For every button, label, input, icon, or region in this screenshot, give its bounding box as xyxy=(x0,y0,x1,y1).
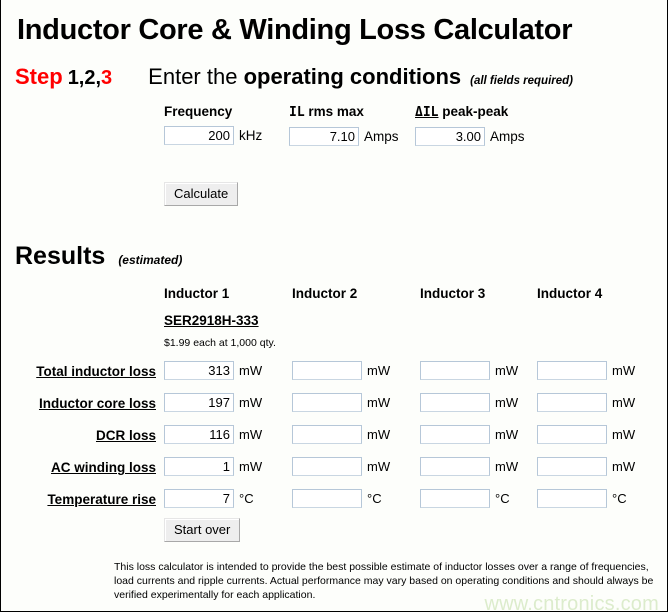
value-core-loss-inductor-2[interactable] xyxy=(292,393,362,412)
step-numbers-black: 1,2, xyxy=(68,67,101,89)
unit-dcr-loss-inductor-4: mW xyxy=(612,427,635,442)
cell-dcr-loss-inductor-2: mW xyxy=(292,425,390,444)
column-header-inductor-2: Inductor 2 xyxy=(292,286,357,301)
value-core-loss-inductor-1[interactable] xyxy=(164,393,234,412)
il-rms-max-field-row: Amps xyxy=(289,127,399,146)
step-word: Step xyxy=(15,64,63,90)
delta-il-peak-peak-unit: Amps xyxy=(490,129,525,144)
cell-temp-rise-inductor-4: °C xyxy=(537,489,627,508)
cell-dcr-loss-inductor-1: mW xyxy=(164,425,262,444)
value-temp-rise-inductor-4[interactable] xyxy=(537,489,607,508)
unit-temp-rise-inductor-1: °C xyxy=(239,491,254,506)
unit-ac-winding-loss-inductor-4: mW xyxy=(612,459,635,474)
calculate-button[interactable]: Calculate xyxy=(164,182,238,206)
cell-total-loss-inductor-3: mW xyxy=(420,361,518,380)
cell-core-loss-inductor-4: mW xyxy=(537,393,635,412)
il-rms-max-unit: Amps xyxy=(364,129,399,144)
row-label-ac-winding-loss[interactable]: AC winding loss xyxy=(1,460,156,475)
operating-conditions-inputs: Frequency kHz IL rms max Amps ΔIL peak-p… xyxy=(1,90,667,182)
step-instruction-bold: operating conditions xyxy=(244,64,462,89)
value-temp-rise-inductor-3[interactable] xyxy=(420,489,490,508)
delta-il-peak-peak-input[interactable] xyxy=(415,127,485,146)
cell-total-loss-inductor-2: mW xyxy=(292,361,390,380)
value-dcr-loss-inductor-3[interactable] xyxy=(420,425,490,444)
step-number-three: 3 xyxy=(101,67,112,89)
start-over-button-wrap: Start over xyxy=(164,518,240,542)
unit-core-loss-inductor-3: mW xyxy=(495,395,518,410)
cell-temp-rise-inductor-1: °C xyxy=(164,489,254,508)
unit-temp-rise-inductor-2: °C xyxy=(367,491,382,506)
all-fields-required-note: (all fields required) xyxy=(470,75,573,87)
delta-il-peak-peak-group: ΔIL peak-peak Amps xyxy=(415,104,525,146)
value-core-loss-inductor-4[interactable] xyxy=(537,393,607,412)
value-ac-winding-loss-inductor-2[interactable] xyxy=(292,457,362,476)
cell-temp-rise-inductor-3: °C xyxy=(420,489,510,508)
part-number-link-inductor-1[interactable]: SER2918H-333 xyxy=(164,313,259,328)
unit-ac-winding-loss-inductor-3: mW xyxy=(495,459,518,474)
value-dcr-loss-inductor-4[interactable] xyxy=(537,425,607,444)
column-header-inductor-1: Inductor 1 xyxy=(164,286,229,301)
results-title: Results xyxy=(15,242,105,271)
value-temp-rise-inductor-1[interactable] xyxy=(164,489,234,508)
results-heading-row: Results (estimated) xyxy=(1,206,667,271)
cell-ac-winding-loss-inductor-1: mW xyxy=(164,457,262,476)
results-estimated-note: (estimated) xyxy=(118,253,182,267)
cell-ac-winding-loss-inductor-4: mW xyxy=(537,457,635,476)
delta-il-peak-peak-label: ΔIL peak-peak xyxy=(415,104,525,120)
calculator-page: Inductor Core & Winding Loss Calculator … xyxy=(0,0,668,612)
cell-dcr-loss-inductor-3: mW xyxy=(420,425,518,444)
unit-core-loss-inductor-1: mW xyxy=(239,395,262,410)
value-total-loss-inductor-4[interactable] xyxy=(537,361,607,380)
delta-il-label-rest: peak-peak xyxy=(438,104,508,119)
value-total-loss-inductor-3[interactable] xyxy=(420,361,490,380)
unit-total-loss-inductor-3: mW xyxy=(495,363,518,378)
unit-dcr-loss-inductor-2: mW xyxy=(367,427,390,442)
cell-dcr-loss-inductor-4: mW xyxy=(537,425,635,444)
unit-dcr-loss-inductor-1: mW xyxy=(239,427,262,442)
cell-core-loss-inductor-1: mW xyxy=(164,393,262,412)
start-over-button[interactable]: Start over xyxy=(164,518,240,542)
unit-dcr-loss-inductor-3: mW xyxy=(495,427,518,442)
unit-core-loss-inductor-4: mW xyxy=(612,395,635,410)
column-header-inductor-4: Inductor 4 xyxy=(537,286,602,301)
delta-il-symbol: ΔIL xyxy=(415,105,438,120)
il-rms-max-label-rest: rms max xyxy=(305,104,364,119)
unit-temp-rise-inductor-3: °C xyxy=(495,491,510,506)
step-instruction-plain: Enter the xyxy=(148,64,243,89)
value-ac-winding-loss-inductor-3[interactable] xyxy=(420,457,490,476)
value-ac-winding-loss-inductor-1[interactable] xyxy=(164,457,234,476)
frequency-field-row: kHz xyxy=(164,126,262,145)
cell-temp-rise-inductor-2: °C xyxy=(292,489,382,508)
site-watermark: www.cntronics.com xyxy=(484,593,659,616)
part-price-inductor-1: $1.99 each at 1,000 qty. xyxy=(164,337,276,349)
value-ac-winding-loss-inductor-4[interactable] xyxy=(537,457,607,476)
calculate-button-wrap: Calculate xyxy=(1,182,667,206)
cell-total-loss-inductor-1: mW xyxy=(164,361,262,380)
il-rms-max-input[interactable] xyxy=(289,127,359,146)
row-label-inductor-core-loss[interactable]: Inductor core loss xyxy=(1,396,156,411)
unit-ac-winding-loss-inductor-1: mW xyxy=(239,459,262,474)
frequency-label: Frequency xyxy=(164,104,262,119)
il-rms-max-label: IL rms max xyxy=(289,104,399,120)
unit-temp-rise-inductor-4: °C xyxy=(612,491,627,506)
step-numbers: 1,2,3 xyxy=(68,67,112,90)
value-core-loss-inductor-3[interactable] xyxy=(420,393,490,412)
step-heading-row: Step 1,2,3 Enter the operating condition… xyxy=(1,45,667,90)
value-total-loss-inductor-2[interactable] xyxy=(292,361,362,380)
unit-total-loss-inductor-1: mW xyxy=(239,363,262,378)
unit-total-loss-inductor-2: mW xyxy=(367,363,390,378)
page-title: Inductor Core & Winding Loss Calculator xyxy=(1,0,667,45)
value-temp-rise-inductor-2[interactable] xyxy=(292,489,362,508)
il-symbol: IL xyxy=(289,105,305,120)
il-rms-max-group: IL rms max Amps xyxy=(289,104,399,146)
unit-core-loss-inductor-2: mW xyxy=(367,395,390,410)
frequency-unit: kHz xyxy=(239,128,262,143)
step-instruction: Enter the operating conditions xyxy=(148,64,461,90)
row-label-dcr-loss[interactable]: DCR loss xyxy=(1,428,156,443)
delta-il-field-row: Amps xyxy=(415,127,525,146)
row-label-temperature-rise[interactable]: Temperature rise xyxy=(1,492,156,507)
value-dcr-loss-inductor-1[interactable] xyxy=(164,425,234,444)
cell-total-loss-inductor-4: mW xyxy=(537,361,635,380)
value-dcr-loss-inductor-2[interactable] xyxy=(292,425,362,444)
cell-core-loss-inductor-2: mW xyxy=(292,393,390,412)
cell-core-loss-inductor-3: mW xyxy=(420,393,518,412)
unit-ac-winding-loss-inductor-2: mW xyxy=(367,459,390,474)
cell-ac-winding-loss-inductor-3: mW xyxy=(420,457,518,476)
column-header-inductor-3: Inductor 3 xyxy=(420,286,485,301)
value-total-loss-inductor-1[interactable] xyxy=(164,361,234,380)
frequency-group: Frequency kHz xyxy=(164,104,262,145)
row-label-total-inductor-loss[interactable]: Total inductor loss xyxy=(1,364,156,379)
cell-ac-winding-loss-inductor-2: mW xyxy=(292,457,390,476)
unit-total-loss-inductor-4: mW xyxy=(612,363,635,378)
frequency-input[interactable] xyxy=(164,126,234,145)
